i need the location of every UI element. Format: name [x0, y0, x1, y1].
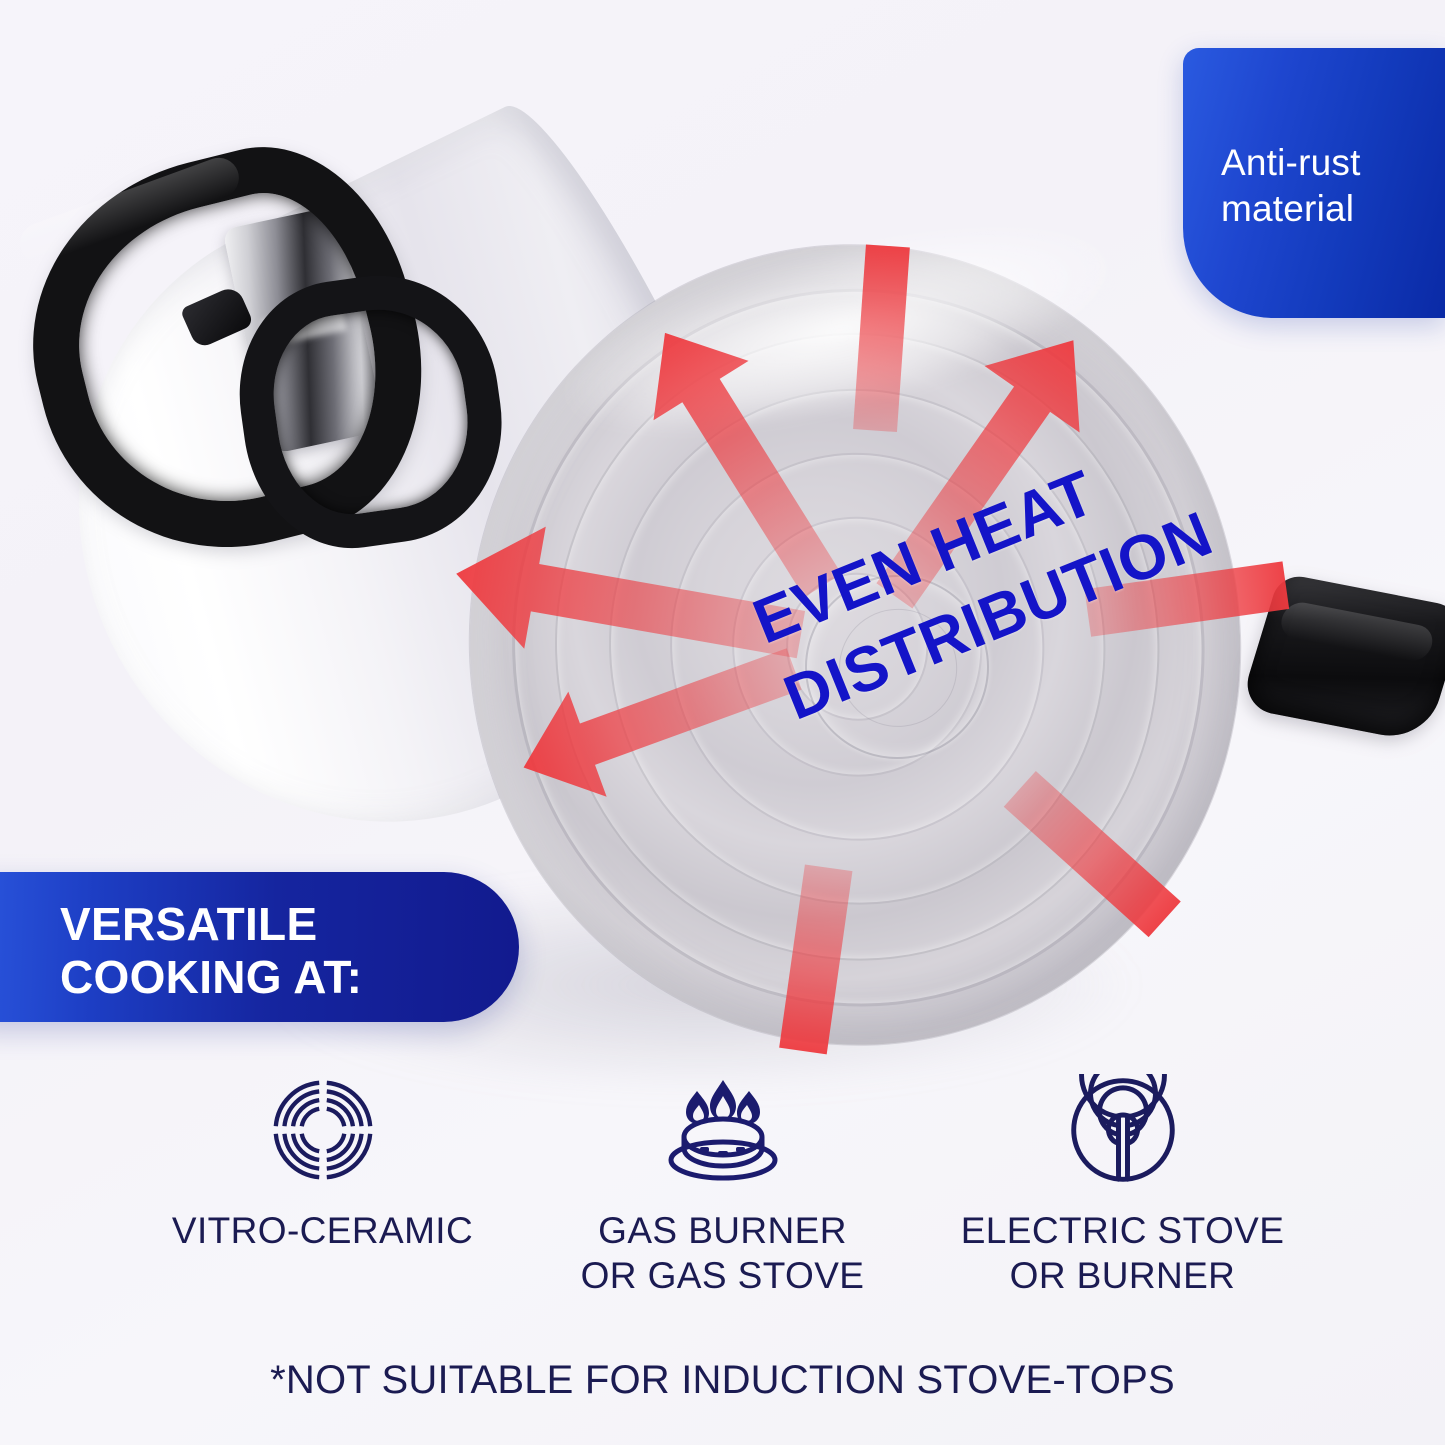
pot-side-wall	[0, 84, 823, 922]
arrow-se	[1004, 771, 1181, 937]
side-handle	[1239, 573, 1445, 744]
versatile-cooking-badge-label: VERSATILE COOKING AT:	[60, 898, 362, 1005]
base-specular-highlight	[549, 185, 1131, 476]
electric-stove-icon-svg	[1067, 1074, 1179, 1186]
lid-inner-handle	[225, 260, 518, 561]
gas-burner-icon	[664, 1074, 782, 1186]
feature-electric-stove: ELECTRIC STOVE OR BURNER	[923, 1074, 1323, 1298]
feature-label-gas-burner: GAS BURNER OR GAS STOVE	[581, 1208, 865, 1298]
gas-burner-icon-svg	[664, 1074, 782, 1186]
even-heat-distribution-headline: EVEN HEAT DISTRIBUTION	[742, 393, 1285, 740]
vitro-ceramic-icon-svg	[269, 1076, 377, 1184]
lid-pressure-knob	[180, 284, 255, 349]
arrow-s	[779, 864, 852, 1054]
feature-label-vitro-ceramic: VITRO-CERAMIC	[172, 1208, 473, 1253]
versatile-cooking-badge: VERSATILE COOKING AT:	[0, 872, 519, 1022]
induction-disclaimer: *NOT SUITABLE FOR INDUCTION STOVE-TOPS	[0, 1358, 1445, 1403]
vitro-ceramic-icon	[269, 1074, 377, 1186]
feature-vitro-ceramic: VITRO-CERAMIC	[123, 1074, 523, 1253]
product-infographic: EVEN HEAT DISTRIBUTION Anti-rust materia…	[0, 0, 1445, 1445]
anti-rust-badge-label: Anti-rust material	[1221, 140, 1361, 232]
lid-outer-handle	[0, 119, 459, 588]
arrow-n	[853, 244, 910, 432]
lid-chrome-bracket	[222, 205, 385, 455]
lid-handle-assembly	[30, 145, 470, 495]
anti-rust-badge: Anti-rust material	[1183, 48, 1445, 318]
feature-label-electric-stove: ELECTRIC STOVE OR BURNER	[961, 1208, 1285, 1298]
electric-stove-icon	[1067, 1074, 1179, 1186]
feature-gas-burner: GAS BURNER OR GAS STOVE	[523, 1074, 923, 1298]
cooking-surface-features: VITRO-CERAMIC	[0, 1074, 1445, 1298]
